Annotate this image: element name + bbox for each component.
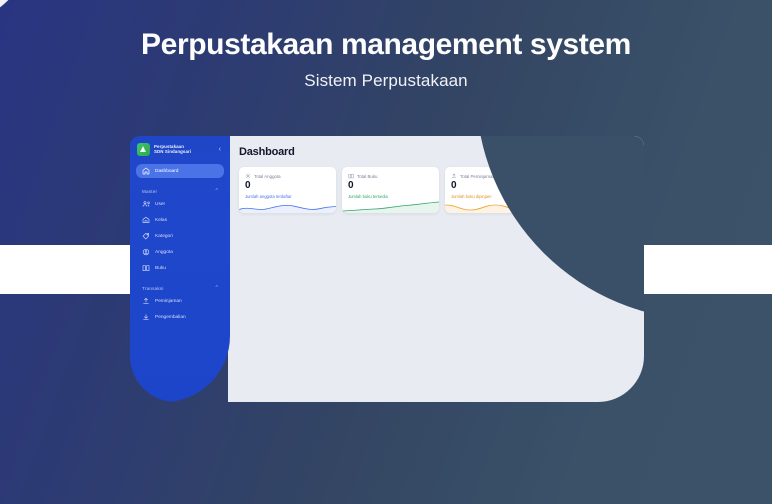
sidebar-item-label: Kelas: [155, 218, 167, 223]
book-logo-icon: [137, 143, 150, 156]
sidebar: Perpustakaan SDN Sindangsari ‹ Dashboard…: [130, 136, 230, 402]
sidebar-item-user[interactable]: User: [136, 197, 224, 211]
tag-icon: [142, 232, 150, 240]
stat-card-value: 0: [239, 179, 336, 191]
stat-card-label: Total Buku: [357, 174, 378, 179]
stat-card-label: Total Anggota: [254, 174, 281, 179]
sidebar-item-label: Kategori: [155, 234, 173, 239]
chevron-left-icon[interactable]: ‹: [219, 146, 224, 153]
sidebar-item-kelas[interactable]: Kelas: [136, 213, 224, 227]
download-icon: [142, 313, 150, 321]
stat-card-total-anggota[interactable]: Total Anggota 0 Jumlah anggota terdaftar: [239, 167, 336, 213]
upload-icon: [451, 173, 457, 179]
upload-icon: [142, 297, 150, 305]
page-subtitle: Sistem Perpustakaan: [0, 71, 772, 91]
sidebar-item-label: Dashboard: [155, 169, 178, 174]
hero-header: Perpustakaan management system Sistem Pe…: [0, 30, 772, 91]
sidebar-item-label: User: [155, 202, 165, 207]
home-icon: [142, 167, 150, 175]
sidebar-item-anggota[interactable]: Anggota: [136, 245, 224, 259]
chevron-up-icon[interactable]: ^: [215, 188, 218, 194]
sidebar-group-label: Transaksi: [142, 286, 164, 291]
sidebar-item-kategori[interactable]: Kategori: [136, 229, 224, 243]
school-icon: [142, 216, 150, 224]
sidebar-item-label: Anggota: [155, 250, 173, 255]
book-open-icon: [142, 264, 150, 272]
sidebar-item-pengembalian[interactable]: Pengembalian: [136, 310, 224, 324]
sidebar-item-label: Buku: [155, 266, 166, 271]
sidebar-item-label: Pengembalian: [155, 315, 186, 320]
chevron-up-icon[interactable]: ^: [215, 285, 218, 291]
book-open-icon: [348, 173, 354, 179]
stat-card-value: 0: [342, 179, 439, 191]
brand-line-2: SDN Sindangsari: [154, 150, 191, 155]
gear-icon: [245, 173, 251, 179]
sidebar-item-peminjaman[interactable]: Peminjaman: [136, 294, 224, 308]
sidebar-group-label: Master: [142, 189, 157, 194]
page-title: Perpustakaan management system: [0, 30, 772, 60]
users-icon: [142, 200, 150, 208]
sidebar-item-buku[interactable]: Buku: [136, 261, 224, 275]
sidebar-group-transaksi[interactable]: Transaksi ^: [136, 285, 224, 291]
stat-card-subtitle: Jumlah anggota terdaftar: [239, 191, 336, 199]
stat-card-total-buku[interactable]: Total Buku 0 Jumlah buku tersedia: [342, 167, 439, 213]
sidebar-item-dashboard[interactable]: Dashboard: [136, 164, 224, 178]
sparkline-chart: [342, 200, 439, 213]
app-window: Dashboard Total Anggota 0 Jumlah anggota…: [130, 136, 644, 402]
stat-card-subtitle: Jumlah buku tersedia: [342, 191, 439, 199]
stat-card-label: Total Peminjaman: [460, 174, 495, 179]
sidebar-item-label: Peminjaman: [155, 299, 182, 304]
brand-text: Perpustakaan SDN Sindangsari: [154, 145, 191, 154]
sparkline-chart: [239, 200, 336, 213]
brand-header[interactable]: Perpustakaan SDN Sindangsari ‹: [130, 136, 230, 162]
decorative-corner-circle: [0, 0, 42, 32]
sidebar-group-master[interactable]: Master ^: [136, 188, 224, 194]
user-check-icon: [142, 248, 150, 256]
